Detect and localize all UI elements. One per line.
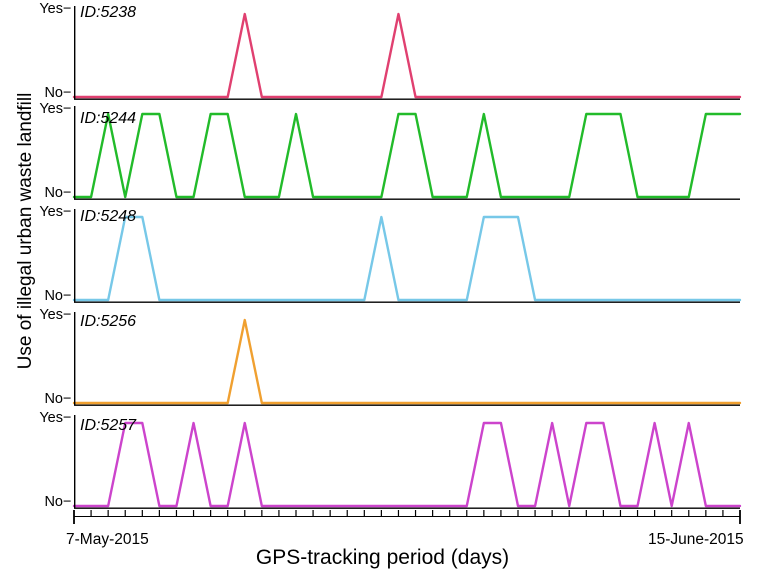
- chart-root: Use of illegal urban waste landfill 7-Ma…: [0, 0, 765, 574]
- panel-id5257: [74, 413, 740, 509]
- y-tick-yes: Yes−: [24, 102, 70, 117]
- panel-id-label: ID:5238: [80, 4, 136, 22]
- y-tick-yes: Yes−: [24, 308, 70, 323]
- y-tick-yes: Yes−: [24, 205, 70, 220]
- x-axis-ticks: [64, 510, 754, 526]
- y-tick-no: No−: [24, 289, 70, 304]
- panel-id-label: ID:5248: [80, 208, 136, 226]
- trace-line: [74, 114, 740, 197]
- panel-id5248: [74, 207, 740, 303]
- y-tick-no: No−: [24, 392, 70, 407]
- panel-id-label: ID:5257: [80, 417, 136, 435]
- trace-line: [74, 217, 740, 300]
- trace-line: [74, 423, 740, 506]
- y-tick-no: No−: [24, 495, 70, 510]
- panel-id-label: ID:5244: [80, 110, 136, 128]
- panel-id-label: ID:5256: [80, 313, 136, 331]
- x-axis-title: GPS-tracking period (days): [0, 546, 765, 570]
- y-tick-no: No−: [24, 86, 70, 101]
- y-tick-no: No−: [24, 186, 70, 201]
- panel-id5256: [74, 310, 740, 406]
- y-axis-title: Use of illegal urban waste landfill: [11, 71, 41, 391]
- y-tick-yes: Yes−: [24, 2, 70, 17]
- trace-line: [74, 320, 740, 403]
- panel-id5238: [74, 4, 740, 100]
- trace-line: [74, 14, 740, 97]
- y-tick-yes: Yes−: [24, 411, 70, 426]
- panel-id5244: [74, 104, 740, 200]
